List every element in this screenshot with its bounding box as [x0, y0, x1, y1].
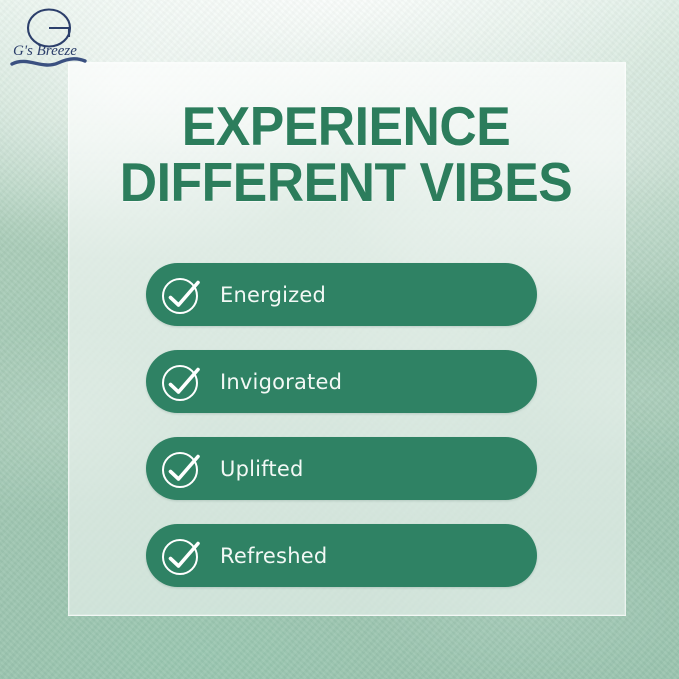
list-item[interactable]: Refreshed [146, 524, 537, 587]
benefit-label: Invigorated [220, 370, 342, 394]
list-item[interactable]: Uplifted [146, 437, 537, 500]
brand-name-text: G's Breeze [13, 43, 77, 59]
benefit-label: Refreshed [220, 544, 327, 568]
benefit-label: Energized [220, 283, 326, 307]
page-title: EXPERIENCE DIFFERENT VIBES [68, 98, 624, 210]
headline-line-2: DIFFERENT VIBES [85, 154, 608, 210]
headline-line-1: EXPERIENCE [85, 98, 608, 154]
brand-logo: G's Breeze [8, 6, 104, 68]
benefit-label: Uplifted [220, 457, 303, 481]
wave-swoosh-icon [12, 59, 85, 65]
list-item[interactable]: Invigorated [146, 350, 537, 413]
circle-check-icon [158, 446, 204, 492]
letter-g-monogram-icon [28, 10, 73, 47]
circle-check-icon [158, 533, 204, 579]
list-item[interactable]: Energized [146, 263, 537, 326]
promo-graphic: G's Breeze EXPERIENCE DIFFERENT VIBES En… [0, 0, 679, 679]
circle-check-icon [158, 272, 204, 318]
circle-check-icon [158, 359, 204, 405]
benefit-list: Energized Invigorated Uplifted [146, 263, 537, 587]
